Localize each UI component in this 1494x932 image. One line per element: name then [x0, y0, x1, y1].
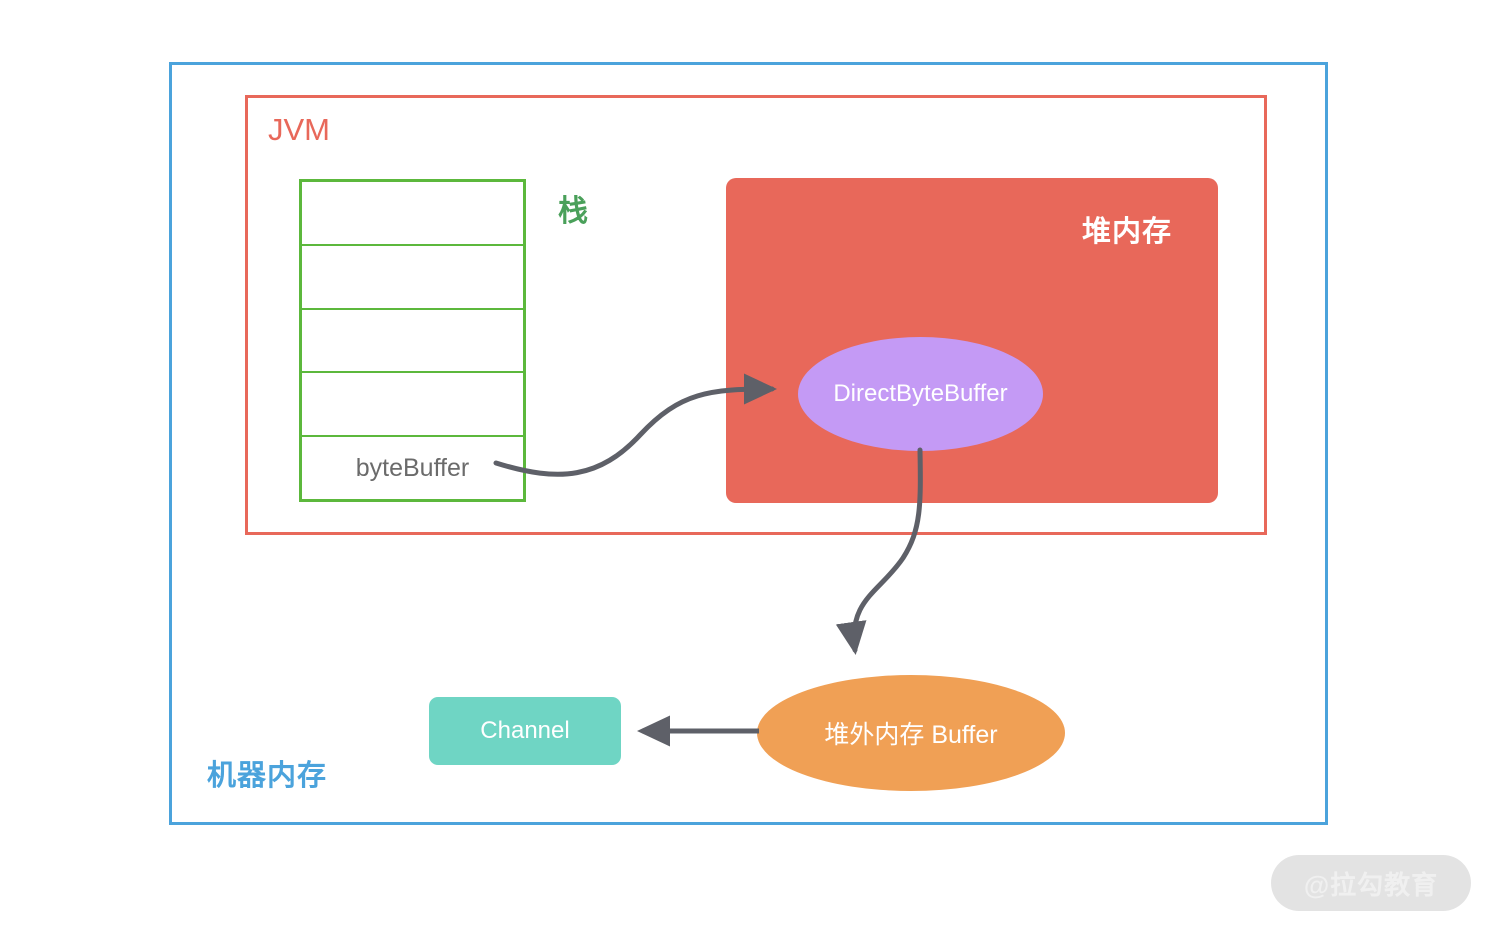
- heap-memory-box: 堆内存: [726, 178, 1218, 503]
- diagram-canvas: 机器内存 JVM byteBuffer 栈 堆内存 DirectByteBuff…: [0, 0, 1494, 932]
- stack-box: byteBuffer: [299, 179, 526, 502]
- watermark-label: @拉勾教育: [1304, 865, 1438, 902]
- stack-row-label: byteBuffer: [356, 454, 470, 483]
- stack-label: 栈: [558, 186, 588, 230]
- stack-row: [302, 310, 523, 374]
- direct-byte-buffer-label: DirectByteBuffer: [833, 380, 1007, 408]
- watermark: @拉勾教育: [1271, 855, 1471, 911]
- stack-row: [302, 246, 523, 310]
- stack-row: [302, 373, 523, 437]
- machine-memory-label: 机器内存: [207, 752, 327, 794]
- jvm-label: JVM: [268, 112, 330, 148]
- heap-memory-label: 堆内存: [1082, 208, 1172, 250]
- stack-row: [302, 182, 523, 246]
- stack-row-bytebuffer: byteBuffer: [302, 437, 523, 499]
- off-heap-buffer-label: 堆外内存 Buffer: [824, 715, 997, 751]
- direct-byte-buffer-node: DirectByteBuffer: [798, 337, 1043, 451]
- channel-label: Channel: [480, 717, 569, 745]
- off-heap-buffer-node: 堆外内存 Buffer: [757, 675, 1065, 791]
- channel-node: Channel: [429, 697, 621, 765]
